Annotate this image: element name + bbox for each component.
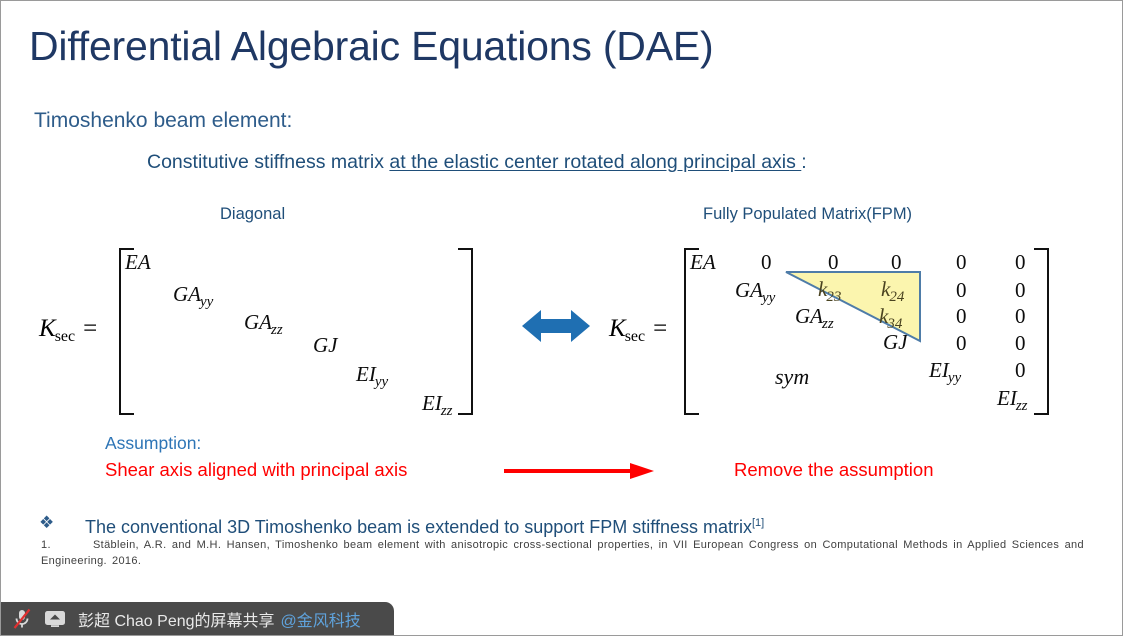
matrix-right-cell-2-4: k24 xyxy=(881,277,905,302)
constitutive-prefix: Constitutive stiffness matrix xyxy=(147,151,389,173)
key-point-text: The conventional 3D Timoshenko beam is e… xyxy=(85,512,764,538)
matrix-right-cell-1-5: 0 xyxy=(956,250,967,275)
cell-base: EA xyxy=(125,250,151,274)
transition-arrow xyxy=(504,461,654,486)
cell-sub: 23 xyxy=(826,289,841,305)
screen-share-presenter: 彭超 Chao Peng的屏幕共享 xyxy=(78,607,275,631)
screen-share-host: @金风科技 xyxy=(281,607,361,631)
matrix-left-subscript: sec xyxy=(55,328,75,345)
cell-base: GJ xyxy=(883,330,908,354)
matrix-right-cell-2-6: 0 xyxy=(1015,278,1026,303)
matrix-right-cell-6-6: EIzz xyxy=(997,386,1029,411)
matrix-left-symbol: Ksec= xyxy=(39,315,97,343)
matrix-left-cell-4-4: GJ xyxy=(313,333,338,358)
assumption-label: Assumption: xyxy=(105,433,201,454)
key-point-bullet: ❖ The conventional 3D Timoshenko beam is… xyxy=(39,512,764,538)
matrix-left-equals: = xyxy=(83,315,97,342)
matrix-right-name: K xyxy=(609,315,626,342)
matrix-right-cell-1-4: 0 xyxy=(891,250,902,275)
screen-share-glyph xyxy=(44,610,66,628)
cell-base: EI xyxy=(997,386,1017,410)
constitutive-suffix: : xyxy=(801,151,806,173)
matrix-left-cell-5-5: EIyy xyxy=(356,362,389,387)
matrix-right-sym-label: sym xyxy=(775,364,809,390)
matrix-right-cell-5-5: EIyy xyxy=(929,358,962,383)
transition-arrow-icon xyxy=(504,461,654,481)
screen-share-status-bar[interactable]: 彭超 Chao Peng的屏幕共享 @金风科技 xyxy=(1,602,394,635)
matrix-right-cell-3-4: k34 xyxy=(879,304,903,329)
label-diagonal: Diagonal xyxy=(220,205,285,224)
matrix-left-cell-3-3: GAzz xyxy=(244,310,284,335)
matrix-left-bracket-close xyxy=(458,248,473,415)
matrix-left-name: K xyxy=(39,315,56,342)
matrix-right-cell-3-3: GAzz xyxy=(795,304,835,329)
cell-base: GA xyxy=(244,310,272,334)
cell-sub: zz xyxy=(271,322,283,338)
matrix-right-cell-1-2: 0 xyxy=(761,250,772,275)
cell-base: GJ xyxy=(313,333,338,357)
cell-sub: 34 xyxy=(887,316,902,332)
cell-sub: yy xyxy=(375,374,388,390)
matrix-right-cell-1-1: EA xyxy=(690,250,716,275)
matrix-right-subscript: sec xyxy=(625,328,645,345)
page-title: Differential Algebraic Equations (DAE) xyxy=(29,21,713,71)
reference-superscript: [1] xyxy=(752,517,764,529)
matrix-right-cell-1-3: 0 xyxy=(828,250,839,275)
matrix-right-cell-2-5: 0 xyxy=(956,278,967,303)
cell-base: GA xyxy=(735,278,763,302)
assumption-text: Shear axis aligned with principal axis xyxy=(105,459,407,481)
cell-sub: yy xyxy=(762,290,775,306)
constitutive-matrix-caption: Constitutive stiffness matrix at the ela… xyxy=(147,151,807,174)
cell-base: GA xyxy=(795,304,823,328)
matrix-right-cell-2-2: GAyy xyxy=(735,278,776,303)
matrix-right-cell-4-5: 0 xyxy=(956,331,967,356)
matrix-right-cell-4-4: GJ xyxy=(883,330,908,355)
cell-sub: zz xyxy=(822,316,834,332)
cell-sub: zz xyxy=(1016,398,1028,414)
microphone-muted-glyph xyxy=(12,608,32,630)
matrix-right-cell-3-5: 0 xyxy=(956,304,967,329)
diamond-bullet-icon: ❖ xyxy=(39,512,85,534)
matrix-right-symbol: Ksec= xyxy=(609,315,667,343)
constitutive-underlined: at the elastic center rotated along prin… xyxy=(389,151,801,173)
bidirectional-arrow-icon xyxy=(522,306,590,346)
matrix-right-equals: = xyxy=(653,315,667,342)
screen-share-icon[interactable] xyxy=(44,610,66,628)
presentation-slide: Differential Algebraic Equations (DAE) T… xyxy=(0,0,1123,636)
matrix-left-cell-2-2: GAyy xyxy=(173,282,214,307)
citation-text: Stäblein, A.R. and M.H. Hansen, Timoshen… xyxy=(41,539,1084,567)
matrix-right-bracket-close xyxy=(1034,248,1049,415)
citation-number: 1. xyxy=(41,538,93,554)
cell-base: EI xyxy=(356,362,376,386)
matrix-right-cell-4-6: 0 xyxy=(1015,331,1026,356)
cell-sub: zz xyxy=(441,403,453,419)
bidirectional-arrow xyxy=(522,306,590,351)
microphone-muted-icon[interactable] xyxy=(12,608,32,630)
section-subheading: Timoshenko beam element: xyxy=(34,109,292,133)
label-fully-populated-matrix: Fully Populated Matrix(FPM) xyxy=(703,205,912,224)
cell-sub: yy xyxy=(200,294,213,310)
matrix-left-cell-6-6: EIzz xyxy=(422,391,454,416)
matrix-right-cell-5-6: 0 xyxy=(1015,358,1026,383)
reference-citation: 1.Stäblein, A.R. and M.H. Hansen, Timosh… xyxy=(41,538,1084,569)
cell-base: EI xyxy=(422,391,442,415)
matrix-right-cell-1-6: 0 xyxy=(1015,250,1026,275)
matrix-left-cell-1-1: EA xyxy=(125,250,151,275)
cell-base: EI xyxy=(929,358,949,382)
cell-base: EA xyxy=(690,250,716,274)
matrix-right-cell-3-6: 0 xyxy=(1015,304,1026,329)
cell-base: GA xyxy=(173,282,201,306)
key-point-sentence: The conventional 3D Timoshenko beam is e… xyxy=(85,517,752,537)
cell-sub: 24 xyxy=(889,289,904,305)
cell-sub: yy xyxy=(948,370,961,386)
matrix-right-cell-2-3: k23 xyxy=(818,277,842,302)
remove-assumption-text: Remove the assumption xyxy=(734,459,934,481)
